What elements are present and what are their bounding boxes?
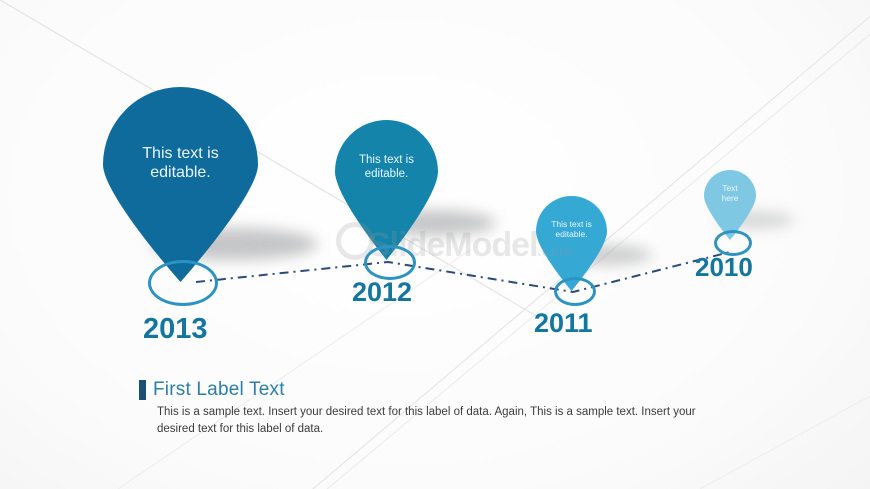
label-block: First Label Text This is a sample text. … [139, 379, 739, 437]
timeline-marker-2012[interactable]: This text is editable. [335, 120, 438, 260]
label-title: First Label Text [153, 379, 285, 401]
label-body-text: This is a sample text. Insert your desir… [157, 404, 702, 437]
map-pin-icon-2012[interactable]: This text is editable. [335, 120, 438, 260]
label-accent-bar [139, 380, 146, 400]
pin-base-ring-2011 [554, 277, 596, 306]
label-heading-row: First Label Text [139, 379, 739, 401]
pin-base-ring-2012 [364, 245, 416, 280]
timeline-year-2011: 2011 [534, 308, 593, 339]
timeline-marker-2013[interactable]: This text is editable. [103, 87, 258, 282]
pin-base-ring-2013 [148, 260, 218, 306]
slide-canvas: SlideModel.com This text is editable. 20… [0, 0, 870, 489]
timeline-year-2013: 2013 [143, 313, 208, 346]
map-pin-icon-2013[interactable]: This text is editable. [103, 87, 258, 282]
timeline-year-2012: 2012 [352, 277, 412, 308]
timeline-year-2010: 2010 [695, 252, 753, 283]
